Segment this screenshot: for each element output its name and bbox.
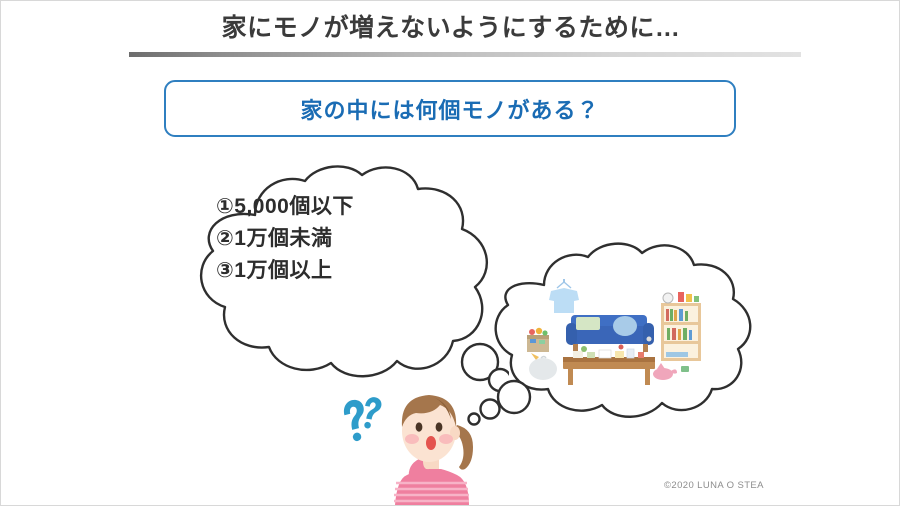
eye-left — [416, 422, 423, 431]
bookshelf-icon — [661, 292, 701, 361]
question-box: 家の中には何個モノがある？ — [164, 80, 736, 137]
eye-right — [436, 422, 443, 431]
toy-box-icon — [527, 328, 549, 360]
mouth-icon — [426, 436, 436, 450]
page-title: 家にモノが増えないようにするために… — [1, 15, 900, 43]
cheek-left — [405, 434, 419, 444]
sofa-icon — [566, 315, 654, 352]
small-ball-icon — [647, 337, 652, 342]
room-illustration — [521, 273, 706, 388]
answer-option-3: ③1万個以上 — [216, 255, 496, 287]
question-box-text: 家の中には何個モノがある？ — [300, 93, 599, 125]
copyright-text: ©2020 LUNA O STEA — [664, 480, 764, 491]
answer-option-1: ①5,000個以下 — [216, 191, 496, 223]
thinking-woman-illustration — [379, 375, 483, 505]
beanbag-icon — [529, 358, 557, 380]
page-title-text: 家にモノが増えないようにするために… — [222, 15, 681, 43]
answer-option-2: ②1万個未満 — [216, 223, 496, 255]
pink-toy-icon — [653, 363, 677, 380]
hanging-shirt-icon — [549, 279, 579, 313]
title-underline-rule — [129, 52, 801, 57]
answer-list: ①5,000個以下 ②1万個未満 ③1万個以上 — [216, 191, 496, 287]
slide-canvas: 家にモノが増えないようにするために… 家の中には何個モノがある？ ①5,000個… — [0, 0, 900, 506]
shirt-icon — [395, 469, 469, 505]
cheek-right — [439, 434, 453, 444]
green-block-icon — [681, 366, 689, 372]
